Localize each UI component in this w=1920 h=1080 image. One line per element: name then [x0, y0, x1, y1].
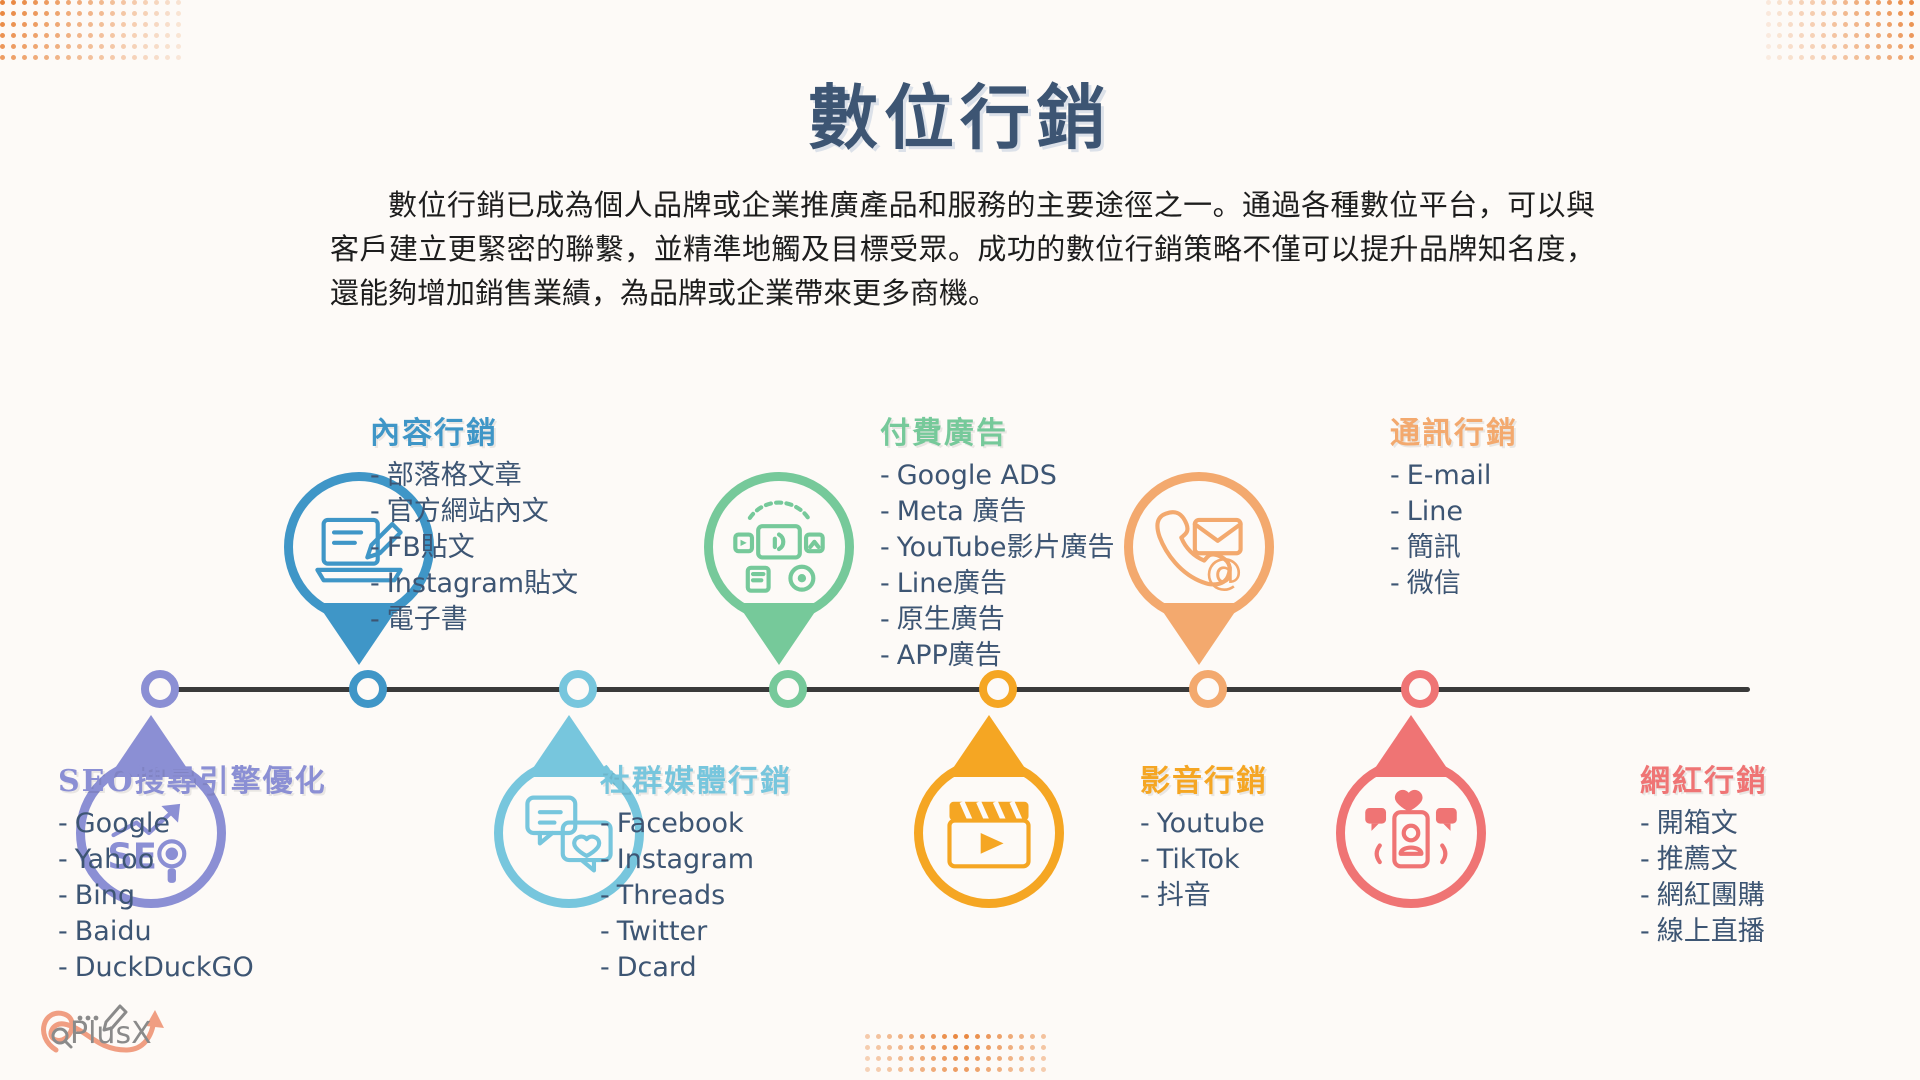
section-list-influencer: -開箱文-推薦文-網紅團購-線上直播 [1640, 806, 1768, 950]
list-item: -網紅團購 [1640, 878, 1768, 914]
list-dash: - [58, 808, 68, 839]
timeline-node-video[interactable] [979, 670, 1017, 708]
dot-pattern-top-right [1766, 0, 1920, 66]
section-list-content: -部落格文章-官方網站內文-FB貼文-Instagram貼文-電子書 [370, 458, 578, 638]
list-item: -Line [1390, 494, 1518, 530]
list-item: -Line廣告 [880, 566, 1115, 602]
section-list-social: -Facebook-Instagram-Threads-Twitter-Dcar… [600, 806, 792, 986]
section-seo: SEO搜尋引擎優化-Google-Yahoo-Bing-Baidu-DuckDu… [58, 756, 327, 986]
dot-pattern-top-left [0, 0, 187, 66]
section-list-paid: -Google ADS-Meta 廣告-YouTube影片廣告-Line廣告-原… [880, 458, 1115, 673]
list-dash: - [600, 952, 610, 983]
pin-tail-video [947, 715, 1031, 777]
page-title: 數位行銷 [0, 62, 1920, 163]
pin-messaging[interactable]: @ [1124, 472, 1274, 622]
list-dash: - [1140, 808, 1150, 839]
list-item: -Youtube [1140, 806, 1268, 842]
list-dash: - [58, 952, 68, 983]
timeline-node-content[interactable] [349, 670, 387, 708]
section-title-messaging: 通訊行銷 [1390, 408, 1518, 452]
list-item: -Threads [600, 878, 792, 914]
list-dash: - [1640, 808, 1650, 839]
dot-pattern-bottom-center [865, 1034, 1052, 1078]
list-item: -APP廣告 [880, 638, 1115, 674]
section-influencer: 網紅行銷-開箱文-推薦文-網紅團購-線上直播 [1640, 756, 1768, 950]
phone-email-icon: @ [1124, 472, 1274, 622]
list-item: -Bing [58, 878, 327, 914]
list-dash: - [370, 496, 380, 527]
section-social: 社群媒體行銷-Facebook-Instagram-Threads-Twitte… [600, 756, 792, 986]
pin-tail-influencer [1369, 715, 1453, 777]
list-item: -TikTok [1140, 842, 1268, 878]
list-dash: - [880, 460, 890, 491]
list-dash: - [1140, 880, 1150, 911]
section-list-seo: -Google-Yahoo-Bing-Baidu-DuckDuckGO [58, 806, 327, 986]
list-item: -Google [58, 806, 327, 842]
list-item: -部落格文章 [370, 458, 578, 494]
list-dash: - [1390, 532, 1400, 563]
section-title-influencer: 網紅行銷 [1640, 756, 1768, 800]
list-item: -Google ADS [880, 458, 1115, 494]
list-dash: - [370, 604, 380, 635]
section-content: 內容行銷-部落格文章-官方網站內文-FB貼文-Instagram貼文-電子書 [370, 408, 578, 638]
infographic-canvas: 數位行銷 數位行銷已成為個人品牌或企業推廣產品和服務的主要途徑之一。通過各種數位… [0, 0, 1920, 1080]
list-dash: - [880, 640, 890, 671]
list-item: -YouTube影片廣告 [880, 530, 1115, 566]
list-dash: - [1640, 916, 1650, 947]
list-dash: - [1140, 844, 1150, 875]
list-dash: - [600, 844, 610, 875]
list-dash: - [600, 916, 610, 947]
list-dash: - [880, 496, 890, 527]
timeline-node-paid[interactable] [769, 670, 807, 708]
list-item: -抖音 [1140, 878, 1268, 914]
section-video: 影音行銷-Youtube-TikTok-抖音 [1140, 756, 1268, 914]
list-dash: - [1640, 844, 1650, 875]
ads-megaphone-screen-icon [704, 472, 854, 622]
list-item: -線上直播 [1640, 914, 1768, 950]
list-item: -Facebook [600, 806, 792, 842]
list-item: -原生廣告 [880, 602, 1115, 638]
pin-tail-social [527, 715, 611, 777]
list-item: -Twitter [600, 914, 792, 950]
list-dash: - [370, 568, 380, 599]
list-dash: - [1390, 568, 1400, 599]
timeline-node-social[interactable] [559, 670, 597, 708]
list-item: -Instagram貼文 [370, 566, 578, 602]
section-list-messaging: -E-mail-Line-簡訊-微信 [1390, 458, 1518, 602]
list-item: -Instagram [600, 842, 792, 878]
list-item: -Baidu [58, 914, 327, 950]
section-paid: 付費廣告-Google ADS-Meta 廣告-YouTube影片廣告-Line… [880, 408, 1115, 673]
list-item: -Yahoo [58, 842, 327, 878]
list-item: -簡訊 [1390, 530, 1518, 566]
list-dash: - [58, 880, 68, 911]
timeline-node-messaging[interactable] [1189, 670, 1227, 708]
list-item: -微信 [1390, 566, 1518, 602]
pin-video[interactable] [914, 758, 1064, 908]
list-item: -FB貼文 [370, 530, 578, 566]
section-title-video: 影音行銷 [1140, 756, 1268, 800]
list-item: -開箱文 [1640, 806, 1768, 842]
pin-influencer[interactable] [1336, 758, 1486, 908]
section-title-seo: SEO搜尋引擎優化 [58, 756, 327, 800]
list-item: -電子書 [370, 602, 578, 638]
section-messaging: 通訊行銷-E-mail-Line-簡訊-微信 [1390, 408, 1518, 602]
video-player-icon [914, 758, 1064, 908]
pin-paid[interactable] [704, 472, 854, 622]
list-dash: - [600, 880, 610, 911]
svg-text:@: @ [1205, 549, 1242, 593]
list-dash: - [1390, 460, 1400, 491]
influencer-phone-icon [1336, 758, 1486, 908]
section-title-paid: 付費廣告 [880, 408, 1115, 452]
timeline-axis [160, 687, 1750, 692]
list-item: -DuckDuckGO [58, 950, 327, 986]
timeline-node-seo[interactable] [141, 670, 179, 708]
timeline-node-influencer[interactable] [1401, 670, 1439, 708]
pin-tail-paid [737, 603, 821, 665]
list-dash: - [880, 532, 890, 563]
list-dash: - [600, 808, 610, 839]
list-dash: - [58, 916, 68, 947]
section-title-content: 內容行銷 [370, 408, 578, 452]
list-dash: - [370, 460, 380, 491]
list-dash: - [1640, 880, 1650, 911]
list-dash: - [1390, 496, 1400, 527]
list-item: -Dcard [600, 950, 792, 986]
list-dash: - [880, 604, 890, 635]
list-dash: - [370, 532, 380, 563]
list-item: -E-mail [1390, 458, 1518, 494]
list-dash: - [880, 568, 890, 599]
pin-tail-messaging [1157, 603, 1241, 665]
list-dash: - [58, 844, 68, 875]
plusx-logo-text: PlusX [70, 1016, 152, 1051]
intro-paragraph: 數位行銷已成為個人品牌或企業推廣產品和服務的主要途徑之一。通過各種數位平台，可以… [330, 183, 1595, 315]
list-item: -官方網站內文 [370, 494, 578, 530]
list-item: -推薦文 [1640, 842, 1768, 878]
plusx-logo: PlusX [22, 992, 182, 1072]
section-list-video: -Youtube-TikTok-抖音 [1140, 806, 1268, 914]
list-item: -Meta 廣告 [880, 494, 1115, 530]
section-title-social: 社群媒體行銷 [600, 756, 792, 800]
